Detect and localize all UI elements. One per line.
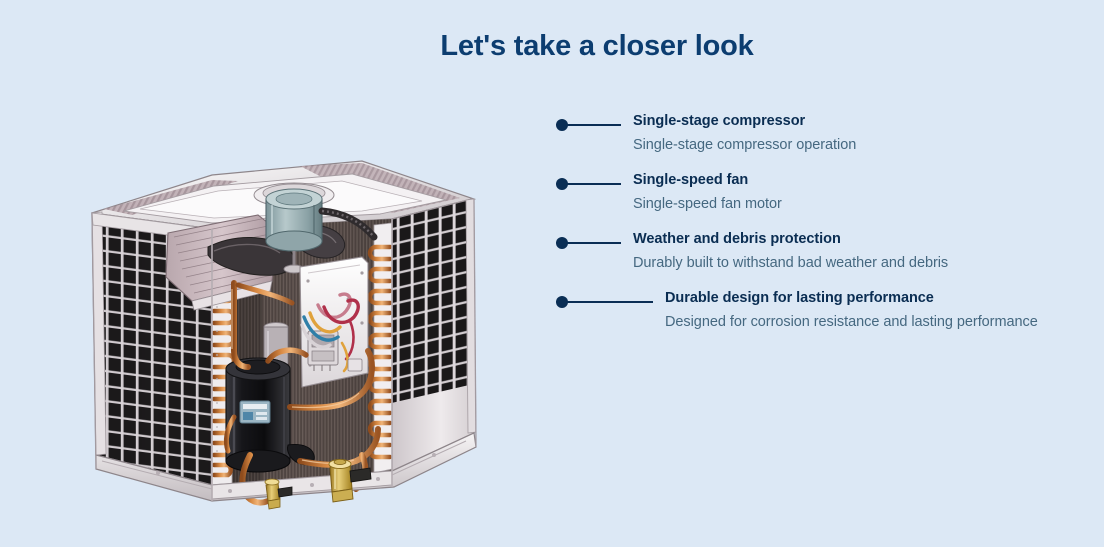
feature-item-single-stage-compressor: Single-stage compressor Single-stage com…	[556, 112, 1096, 171]
connector-line	[567, 301, 653, 304]
feature-title: Single-speed fan	[633, 171, 1096, 189]
connector-line	[567, 183, 621, 186]
feature-list: Single-stage compressor Single-stage com…	[556, 112, 1096, 348]
feature-body: Single-speed fan Single-speed fan motor	[556, 171, 1096, 213]
feature-description: Single-stage compressor operation	[633, 136, 1096, 154]
page-title: Let's take a closer look	[0, 30, 1104, 63]
page-root: Let's take a closer look	[0, 0, 1104, 547]
feature-description: Designed for corrosion resistance and la…	[665, 313, 1096, 331]
connector-line	[567, 124, 621, 127]
bullet-line-icon	[556, 119, 621, 131]
bullet-line-icon	[556, 178, 621, 190]
feature-item-single-speed-fan: Single-speed fan Single-speed fan motor	[556, 171, 1096, 230]
connector-line	[567, 242, 621, 245]
bullet-line-icon	[556, 296, 653, 308]
feature-title: Single-stage compressor	[633, 112, 1096, 130]
compressor-label	[240, 401, 270, 423]
product-illustration	[62, 155, 502, 520]
feature-item-durable-design-for-lasting-performance: Durable design for lasting performance D…	[556, 289, 1096, 348]
feature-body: Single-stage compressor Single-stage com…	[556, 112, 1096, 154]
feature-title: Weather and debris protection	[633, 230, 1096, 248]
condenser-coil-right	[370, 223, 392, 473]
feature-description: Single-speed fan motor	[633, 195, 1096, 213]
feature-body: Weather and debris protection Durably bu…	[556, 230, 1096, 272]
contactor	[308, 331, 338, 371]
condenser-unit-diagram	[62, 155, 502, 520]
bullet-line-icon	[556, 237, 621, 249]
feature-title: Durable design for lasting performance	[665, 289, 1096, 307]
feature-description: Durably built to withstand bad weather a…	[633, 254, 1096, 272]
feature-item-weather-and-debris-protection: Weather and debris protection Durably bu…	[556, 230, 1096, 289]
